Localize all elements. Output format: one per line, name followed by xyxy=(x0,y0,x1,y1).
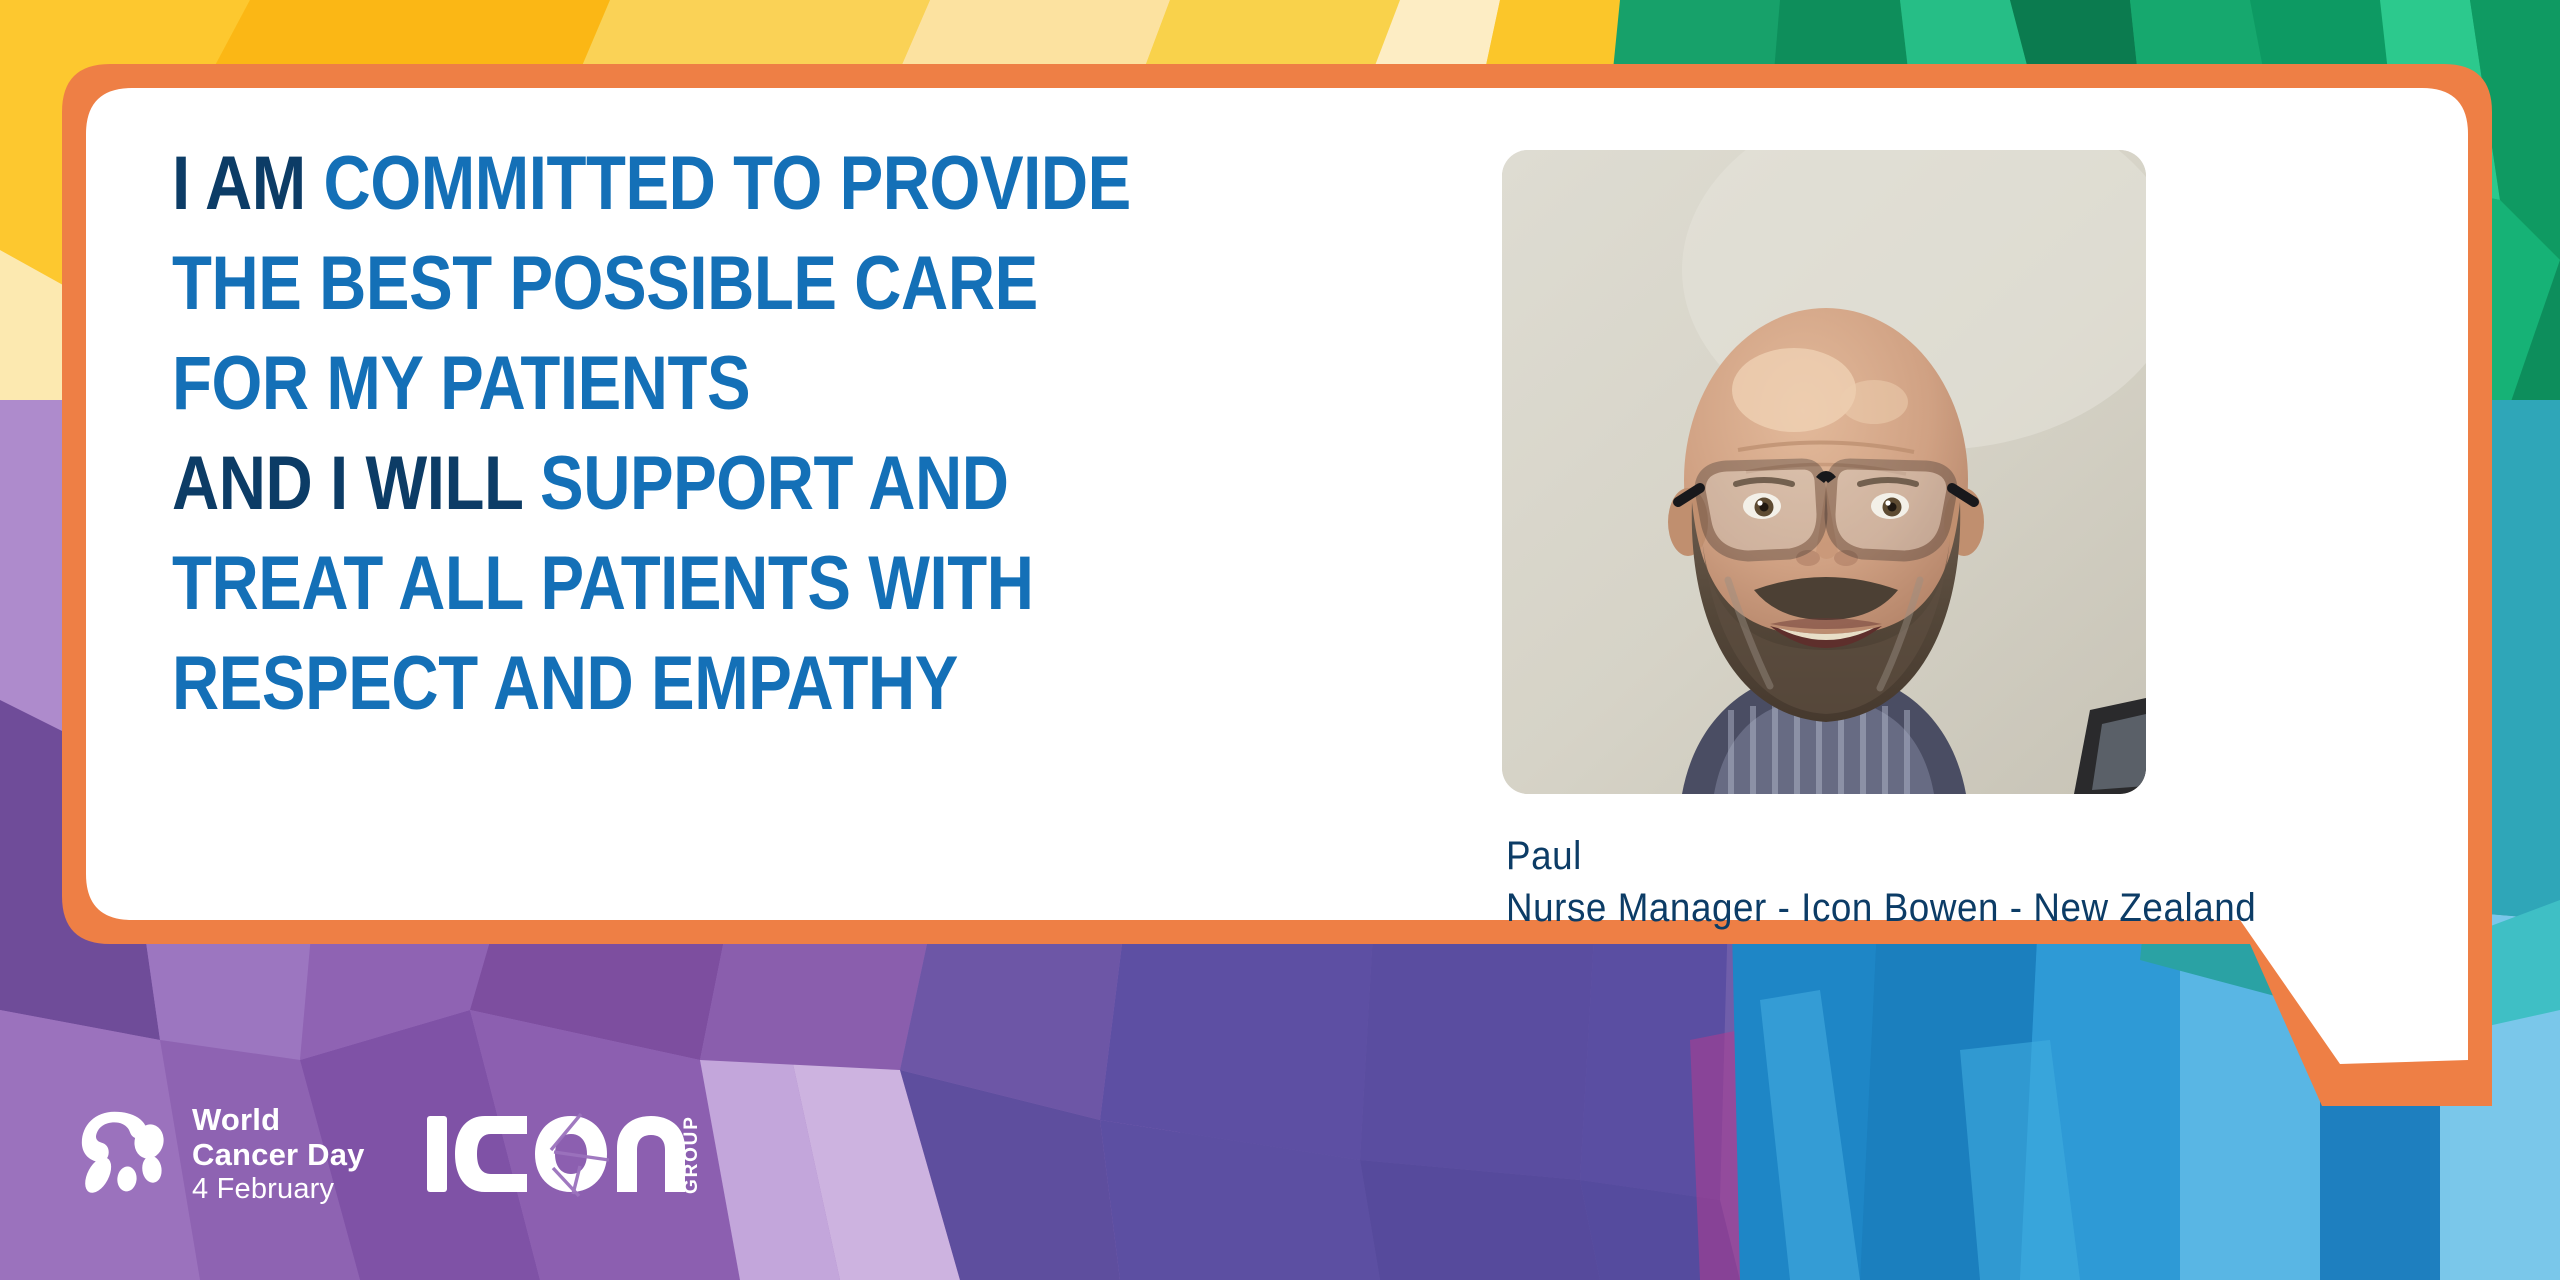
portrait-photo xyxy=(1502,150,2146,794)
attribution-name: Paul xyxy=(1506,830,2334,882)
wcd-line-1: World xyxy=(192,1104,365,1135)
attribution: Paul Nurse Manager - Icon Bowen - New Ze… xyxy=(1506,830,2406,934)
icon-group-suffix: GROUP xyxy=(681,1115,702,1194)
world-cancer-day-wordmark: World Cancer Day 4 February xyxy=(192,1104,365,1204)
footer-logos: World Cancer Day 4 February xyxy=(78,1104,703,1204)
quote-line-2: THE BEST POSSIBLE CARE xyxy=(172,242,1273,326)
poster-canvas: I AM COMMITTED TO PROVIDE THE BEST POSSI… xyxy=(0,0,2560,1280)
pledge-quote: I AM COMMITTED TO PROVIDE THE BEST POSSI… xyxy=(172,142,1452,742)
quote-line-2-accent: THE BEST POSSIBLE CARE xyxy=(172,241,1038,326)
quote-line-1-accent: COMMITTED TO PROVIDE xyxy=(324,141,1131,226)
quote-line-3-accent: FOR MY PATIENTS xyxy=(172,341,750,426)
card-content: I AM COMMITTED TO PROVIDE THE BEST POSSI… xyxy=(62,64,2492,1154)
quote-line-1: I AM COMMITTED TO PROVIDE xyxy=(172,142,1273,226)
quote-line-4-lead: AND I WILL xyxy=(172,441,540,526)
quote-line-1-lead: I AM xyxy=(172,141,324,226)
quote-line-5: TREAT ALL PATIENTS WITH xyxy=(172,542,1273,626)
quote-line-3: FOR MY PATIENTS xyxy=(172,342,1273,426)
icon-group-logo: GROUP xyxy=(423,1106,703,1202)
quote-line-6: RESPECT AND EMPATHY xyxy=(172,642,1273,726)
world-cancer-day-mark xyxy=(78,1106,174,1202)
quote-line-5-accent: TREAT ALL PATIENTS WITH xyxy=(172,541,1033,626)
attribution-role: Nurse Manager - Icon Bowen - New Zealand xyxy=(1506,882,2334,934)
portrait-illustration xyxy=(1502,150,2146,794)
wcd-line-2: Cancer Day xyxy=(192,1139,365,1170)
quote-line-4-accent: SUPPORT AND xyxy=(540,441,1009,526)
quote-line-4: AND I WILL SUPPORT AND xyxy=(172,442,1273,526)
world-cancer-day-logo: World Cancer Day 4 February xyxy=(78,1104,365,1204)
wcd-line-3: 4 February xyxy=(192,1175,365,1204)
quote-line-6-accent: RESPECT AND EMPATHY xyxy=(172,641,958,726)
